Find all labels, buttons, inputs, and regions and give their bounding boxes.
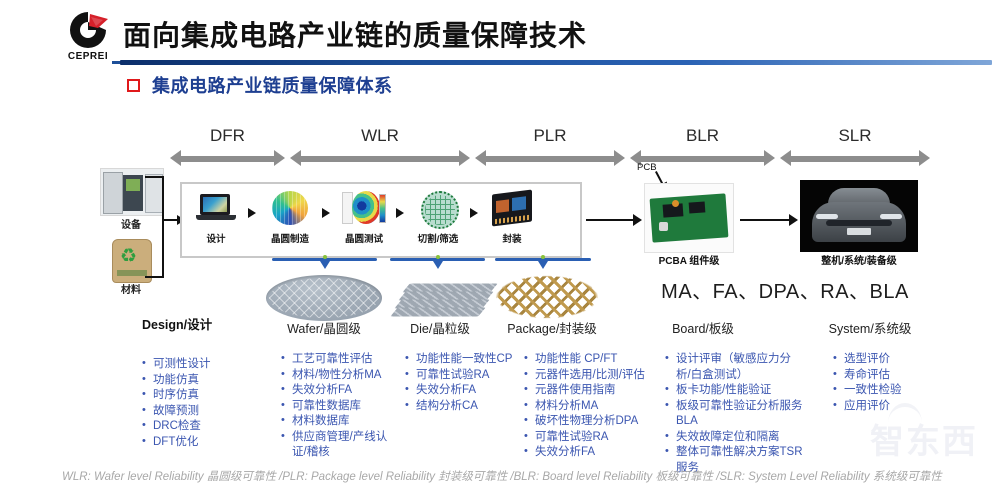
double-arrow-icon — [290, 150, 470, 167]
black-arrow-icon — [740, 219, 790, 221]
black-arrow-icon — [586, 219, 634, 221]
list-item: 功能性能 CP/FT — [524, 352, 654, 368]
tier-label: SLR — [780, 126, 930, 146]
level-label-die: Die/晶粒级 — [384, 318, 496, 337]
double-arrow-icon — [780, 150, 930, 167]
column-package: 功能性能 CP/FT 元器件选用/比测/评估 元器件使用指南 材料分析MA 破坏… — [524, 352, 654, 461]
pcba-board-photo-icon — [644, 183, 734, 253]
list-item: 破坏性物理分析DPA — [524, 414, 654, 430]
level-label-package: Package/封装级 — [488, 318, 616, 337]
pcba-caption: PCBA 组件级 — [634, 252, 744, 267]
tier-label: PLR — [475, 126, 625, 146]
list-item: 元器件使用指南 — [524, 383, 654, 399]
wafer-test-map-icon — [342, 188, 386, 228]
flow-step-design: 设计 — [186, 188, 246, 245]
bracket-wafer-level — [272, 258, 377, 268]
list-item: 失效分析FA — [405, 383, 515, 399]
list-item: 时序仿真 — [142, 388, 272, 404]
dicing-sorting-icon — [416, 188, 460, 228]
list-item: 可靠性试验RA — [405, 368, 515, 384]
page-title: 面向集成电路产业链的质量保障技术 — [123, 14, 587, 54]
input-label-material: 材料 — [102, 281, 160, 296]
slide-root: CEPREI 面向集成电路产业链的质量保障技术 集成电路产业链质量保障体系 DF… — [0, 0, 1000, 489]
column-list: 功能性能一致性CP 可靠性试验RA 失效分析FA 结构分析CA — [405, 352, 515, 414]
red-square-bullet-icon — [127, 79, 140, 92]
bracket-arrow-icon — [164, 219, 178, 221]
laptop-design-icon — [194, 188, 238, 228]
list-item: DRC检查 — [142, 419, 272, 435]
list-item: 可靠性数据库 — [281, 399, 399, 415]
flow-step-label: 晶圆制造 — [260, 231, 320, 245]
list-item: 失效故障定位和隔离 — [665, 430, 805, 446]
tier-plr: PLR — [475, 126, 625, 167]
list-item: 功能仿真 — [142, 373, 272, 389]
flow-step-label: 晶圆测试 — [334, 231, 394, 245]
list-item: 选型评价 — [833, 352, 953, 368]
tier-label: BLR — [630, 126, 775, 146]
tier-blr: BLR — [630, 126, 775, 167]
list-item: 材料数据库 — [281, 414, 399, 430]
tier-label: DFR — [170, 126, 285, 146]
column-system: 选型评价 寿命评估 一致性检验 应用评价 — [833, 352, 953, 414]
services-line: MA、FA、DPA、RA、BLA — [650, 275, 920, 304]
level-label-wafer: Wafer/晶圆级 — [264, 318, 384, 337]
bracket-vertical — [162, 176, 164, 278]
brand-name: CEPREI — [57, 51, 119, 62]
list-item: 可靠性试验RA — [524, 430, 654, 446]
list-item: 功能性能一致性CP — [405, 352, 515, 368]
die-stack-icon — [392, 274, 488, 318]
process-flow-container: 设计 晶圆制造 晶圆测试 切割/筛选 封装 — [180, 182, 582, 258]
level-label-system: System/系统级 — [810, 318, 930, 337]
column-design: Design/设计 可测性设计 功能仿真 时序仿真 故障预测 DRC检查 DFT… — [142, 314, 272, 450]
list-item: 供应商管理/产线认证/稽核 — [281, 430, 399, 461]
list-item: 工艺可靠性评估 — [281, 352, 399, 368]
wafer-disc-icon — [266, 275, 382, 321]
tier-label: WLR — [290, 126, 470, 146]
list-item: 故障预测 — [142, 404, 272, 420]
list-item: 一致性检验 — [833, 383, 953, 399]
watermark: 智东西 — [870, 425, 978, 459]
flow-step-dicing: 切割/筛选 — [408, 188, 468, 245]
list-item: DFT优化 — [142, 435, 272, 451]
column-list: 功能性能 CP/FT 元器件选用/比测/评估 元器件使用指南 材料分析MA 破坏… — [524, 352, 654, 461]
double-arrow-icon — [475, 150, 625, 167]
tier-slr: SLR — [780, 126, 930, 167]
list-item: 板级可靠性验证分析服务 BLA — [665, 399, 805, 430]
level-label-board: Board/板级 — [648, 318, 758, 337]
column-list: 设计评审（敏感应力分析/白盒测试） 板卡功能/性能验证 板级可靠性验证分析服务 … — [665, 352, 805, 476]
list-item: 材料/物性分析MA — [281, 368, 399, 384]
column-list: 选型评价 寿命评估 一致性检验 应用评价 — [833, 352, 953, 414]
column-heading: Design/设计 — [142, 314, 272, 333]
right-chevron-icon — [248, 208, 256, 218]
pcb-label: PCB — [637, 162, 657, 173]
right-chevron-icon — [322, 208, 330, 218]
ceprei-logo-icon — [65, 9, 111, 51]
input-label-equipment: 设备 — [100, 216, 162, 231]
section-subheading-label: 集成电路产业链质量保障体系 — [152, 72, 393, 98]
flow-step-label: 切割/筛选 — [408, 231, 468, 245]
section-subheading: 集成电路产业链质量保障体系 — [127, 72, 393, 98]
bracket-bottom — [145, 276, 164, 278]
bracket-package-level — [495, 258, 591, 268]
list-item: 材料分析MA — [524, 399, 654, 415]
flow-step-package: 封装 — [482, 188, 542, 245]
right-chevron-icon — [396, 208, 404, 218]
list-item: 板卡功能/性能验证 — [665, 383, 805, 399]
tier-wlr: WLR — [290, 126, 470, 167]
list-item: 寿命评估 — [833, 368, 953, 384]
brand-logo: CEPREI — [57, 9, 119, 67]
column-list: 工艺可靠性评估 材料/物性分析MA 失效分析FA 可靠性数据库 材料数据库 供应… — [281, 352, 399, 461]
column-wafer: 工艺可靠性评估 材料/物性分析MA 失效分析FA 可靠性数据库 材料数据库 供应… — [281, 352, 399, 461]
title-rule — [120, 60, 992, 65]
list-item: 失效分析FA — [524, 445, 654, 461]
column-list: 可测性设计 功能仿真 时序仿真 故障预测 DRC检查 DFT优化 — [142, 357, 272, 450]
flow-step-label: 设计 — [186, 231, 246, 245]
bracket-die-level — [390, 258, 485, 268]
right-chevron-icon — [470, 208, 478, 218]
list-item: 失效分析FA — [281, 383, 399, 399]
column-board: 设计评审（敏感应力分析/白盒测试） 板卡功能/性能验证 板级可靠性验证分析服务 … — [665, 352, 805, 476]
packaging-icon — [490, 188, 534, 228]
wafer-fabrication-icon — [268, 188, 312, 228]
column-die: 功能性能一致性CP 可靠性试验RA 失效分析FA 结构分析CA — [405, 352, 515, 414]
list-item: 元器件选用/比测/评估 — [524, 368, 654, 384]
system-caption: 整机/系统/装备级 — [789, 252, 929, 267]
flow-step-fab: 晶圆制造 — [260, 188, 320, 245]
list-item: 设计评审（敏感应力分析/白盒测试） — [665, 352, 805, 383]
flow-step-wafer-test: 晶圆测试 — [334, 188, 394, 245]
list-item: 可测性设计 — [142, 357, 272, 373]
footer-legend: WLR: Wafer level Reliability 晶圆级可靠性 /PLR… — [62, 468, 942, 484]
double-arrow-icon — [170, 150, 285, 167]
list-item: 结构分析CA — [405, 399, 515, 415]
material-bag-icon: ♻ — [108, 235, 154, 281]
package-array-icon — [492, 274, 602, 320]
vehicle-photo-icon — [800, 180, 918, 252]
tier-dfr: DFR — [170, 126, 285, 167]
flow-step-label: 封装 — [482, 231, 542, 245]
